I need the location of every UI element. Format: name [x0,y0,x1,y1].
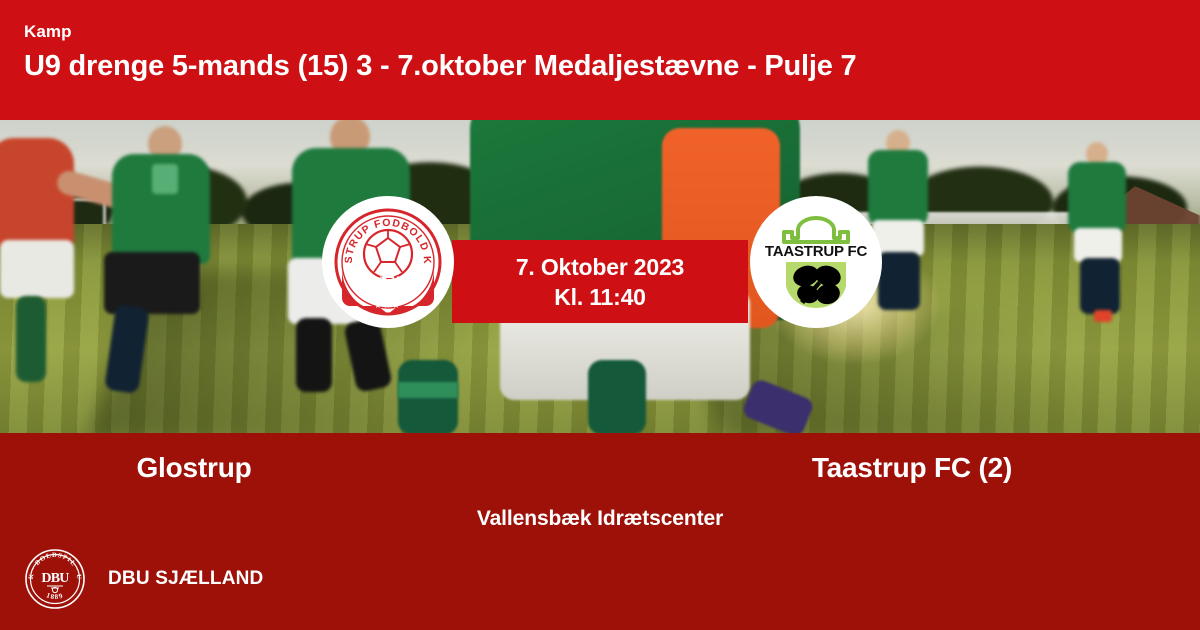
match-date: 7. Oktober 2023 [516,252,684,282]
taastrup-fc-crest: TAASTRUP FC [762,208,870,316]
match-poster: Kamp U9 drenge 5-mands (15) 3 - 7.oktobe… [0,0,1200,630]
poster-header: Kamp U9 drenge 5-mands (15) 3 - 7.oktobe… [0,0,1200,120]
match-datetime-banner: 7. Oktober 2023 Kl. 11:40 [452,240,748,323]
photo-player-distant [878,252,920,310]
away-team-crest: TAASTRUP FC [750,196,882,328]
photo-player [16,296,46,382]
photo-player-foreground [398,382,458,398]
glostrup-fodbold-klub-crest: GLOSTRUP FODBOLD KLUB GFK ★★★ [332,206,444,318]
photo-player-distant [1068,162,1126,234]
photo-player-distant [1080,258,1120,314]
svg-text:TAASTRUP FC: TAASTRUP FC [765,243,868,260]
svg-text:DBU: DBU [41,571,69,586]
match-venue: Vallensbæk Idrætscenter [0,507,1200,531]
home-team-name: Glostrup [0,450,600,486]
footer: DANSK · BOLDSPIL · UNION 1889 DBU DBU SJ… [24,548,263,610]
photo-player [152,164,178,194]
photo-player-distant [868,150,928,226]
photo-player [296,318,332,392]
photo-player-distant [1074,228,1122,262]
photo-player [104,252,200,314]
away-team-name: Taastrup FC (2) [600,450,1200,486]
photo-player-foreground [588,360,646,433]
svg-text:GFK: GFK [358,271,417,300]
photo-player [0,240,74,298]
footer-org-name: DBU SJÆLLAND [108,568,263,590]
match-time: Kl. 11:40 [554,282,646,312]
home-team-crest: GLOSTRUP FODBOLD KLUB GFK ★★★ [322,196,454,328]
dbu-logo: DANSK · BOLDSPIL · UNION 1889 DBU [24,548,86,610]
header-kicker: Kamp [24,22,1176,42]
photo-training-cone [1094,310,1112,322]
team-names-row: Glostrup Taastrup FC (2) [0,450,1200,486]
svg-text:★★★: ★★★ [374,301,402,310]
page-title: U9 drenge 5-mands (15) 3 - 7.oktober Med… [24,48,1176,84]
